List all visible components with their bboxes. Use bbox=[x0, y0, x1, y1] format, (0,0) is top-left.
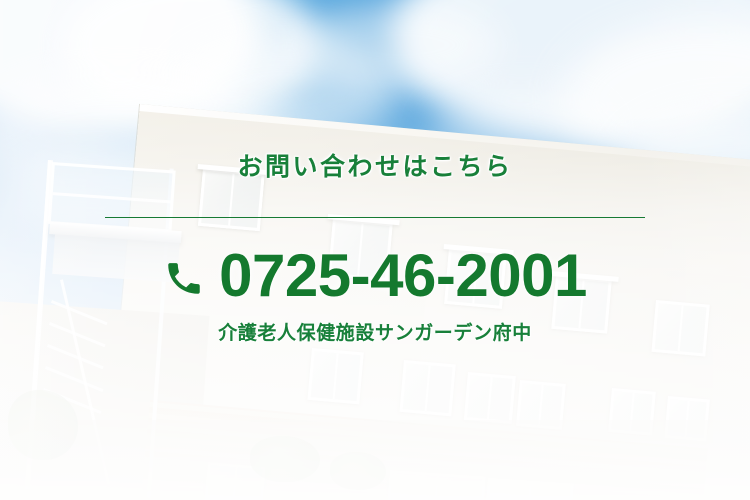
contact-headline: お問い合わせはこちら bbox=[0, 155, 750, 180]
headline-divider bbox=[105, 217, 645, 218]
facility-name: 介護老人保健施設サンガーデン府中 bbox=[0, 323, 750, 346]
contact-cta-banner: お問い合わせはこちら 0725-46-2001 介護老人保健施設サンガーデン府中 bbox=[0, 0, 750, 500]
banner-content: お問い合わせはこちら 0725-46-2001 介護老人保健施設サンガーデン府中 bbox=[0, 0, 750, 500]
phone-handset-icon bbox=[163, 257, 205, 299]
telephone-row[interactable]: 0725-46-2001 bbox=[0, 246, 750, 306]
telephone-number[interactable]: 0725-46-2001 bbox=[219, 246, 587, 306]
